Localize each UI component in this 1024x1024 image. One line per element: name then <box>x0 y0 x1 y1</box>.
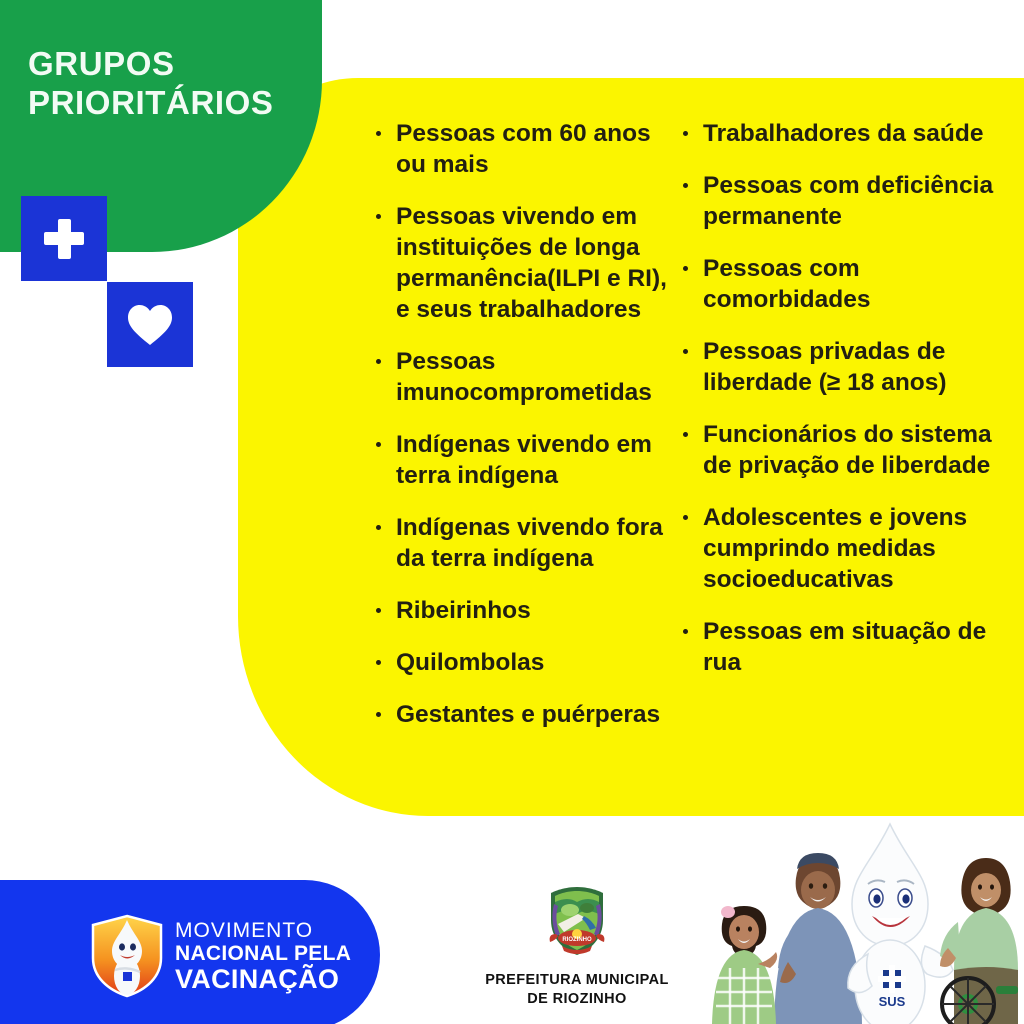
bullet-dot-icon <box>683 183 688 188</box>
list-item: Ribeirinhos <box>374 595 674 626</box>
bullet-dot-icon <box>376 525 381 530</box>
priority-groups-left-column: Pessoas com 60 anos ou mais Pessoas vive… <box>374 118 674 751</box>
list-item: Pessoas vivendo em instituições de longa… <box>374 201 674 325</box>
page-title: GRUPOS PRIORITÁRIOS <box>28 44 274 122</box>
list-item: Pessoas privadas de liberdade (≥ 18 anos… <box>681 336 999 398</box>
heart-icon-tile <box>107 282 193 367</box>
bullet-dot-icon <box>683 432 688 437</box>
list-item: Pessoas imunocomprometidas <box>374 346 674 408</box>
list-item: Trabalhadores da saúde <box>681 118 999 149</box>
list-item: Pessoas com 60 anos ou mais <box>374 118 674 180</box>
bullet-dot-icon <box>376 131 381 136</box>
campaign-logo: MOVIMENTO NACIONAL PELA VACINAÇÃO <box>90 910 390 1002</box>
plus-icon <box>44 219 84 259</box>
bullet-dot-icon <box>376 359 381 364</box>
list-item-label: Pessoas imunocomprometidas <box>396 346 674 408</box>
city-hall-name: PREFEITURA MUNICIPAL DE RIOZINHO <box>452 971 702 1009</box>
bullet-dot-icon <box>376 712 381 717</box>
list-item: Quilombolas <box>374 647 674 678</box>
list-item-label: Ribeirinhos <box>396 595 674 626</box>
list-item-label: Pessoas com 60 anos ou mais <box>396 118 674 180</box>
bullet-dot-icon <box>376 608 381 613</box>
bullet-dot-icon <box>376 660 381 665</box>
plus-icon-tile <box>21 196 107 281</box>
list-item: Indígenas vivendo fora da terra indígena <box>374 512 674 574</box>
list-item-label: Pessoas com deficiência permanente <box>703 170 999 232</box>
campaign-line-3: VACINAÇÃO <box>175 966 351 993</box>
bullet-dot-icon <box>683 349 688 354</box>
poster-canvas: GRUPOS PRIORITÁRIOS Pessoas com 60 anos … <box>0 0 1024 1024</box>
list-item-label: Adolescentes e jovens cumprindo medidas … <box>703 502 999 595</box>
list-item-label: Pessoas em situação de rua <box>703 616 999 678</box>
list-item: Indígenas vivendo em terra indígena <box>374 429 674 491</box>
list-item-label: Gestantes e puérperas <box>396 699 674 730</box>
bullet-dot-icon <box>376 214 381 219</box>
bullet-dot-icon <box>683 515 688 520</box>
bullet-dot-icon <box>683 131 688 136</box>
bullet-dot-icon <box>683 266 688 271</box>
list-item-label: Funcionários do sistema de privação de l… <box>703 419 999 481</box>
sus-family-photo: SUS <box>700 818 1024 1024</box>
list-item-label: Indígenas vivendo fora da terra indígena <box>396 512 674 574</box>
svg-text:SUS: SUS <box>879 994 906 1009</box>
campaign-logo-text: MOVIMENTO NACIONAL PELA VACINAÇÃO <box>175 920 351 993</box>
bullet-dot-icon <box>376 442 381 447</box>
riozinho-coat-of-arms-icon: RIOZINHO <box>540 884 614 958</box>
campaign-line-2: NACIONAL PELA <box>175 943 351 964</box>
priority-groups-right-column: Trabalhadores da saúde Pessoas com defic… <box>681 118 999 699</box>
campaign-line-1: MOVIMENTO <box>175 920 351 941</box>
list-item: Gestantes e puérperas <box>374 699 674 730</box>
list-item-label: Pessoas privadas de liberdade (≥ 18 anos… <box>703 336 999 398</box>
bullet-dot-icon <box>683 629 688 634</box>
list-item: Pessoas em situação de rua <box>681 616 999 678</box>
list-item-label: Indígenas vivendo em terra indígena <box>396 429 674 491</box>
list-item-label: Trabalhadores da saúde <box>703 118 999 149</box>
list-item-label: Pessoas com comorbidades <box>703 253 999 315</box>
list-item: Funcionários do sistema de privação de l… <box>681 419 999 481</box>
list-item: Pessoas com deficiência permanente <box>681 170 999 232</box>
list-item-label: Pessoas vivendo em instituições de longa… <box>396 201 674 325</box>
list-item: Pessoas com comorbidades <box>681 253 999 315</box>
city-hall-block: RIOZINHO PREFEITURA MUNICIPAL DE RIOZINH… <box>452 884 702 1009</box>
list-item-label: Quilombolas <box>396 647 674 678</box>
ze-gotinha-shield-icon <box>90 914 164 998</box>
list-item: Adolescentes e jovens cumprindo medidas … <box>681 502 999 595</box>
heart-icon <box>127 304 173 346</box>
svg-text:RIOZINHO: RIOZINHO <box>562 937 592 943</box>
